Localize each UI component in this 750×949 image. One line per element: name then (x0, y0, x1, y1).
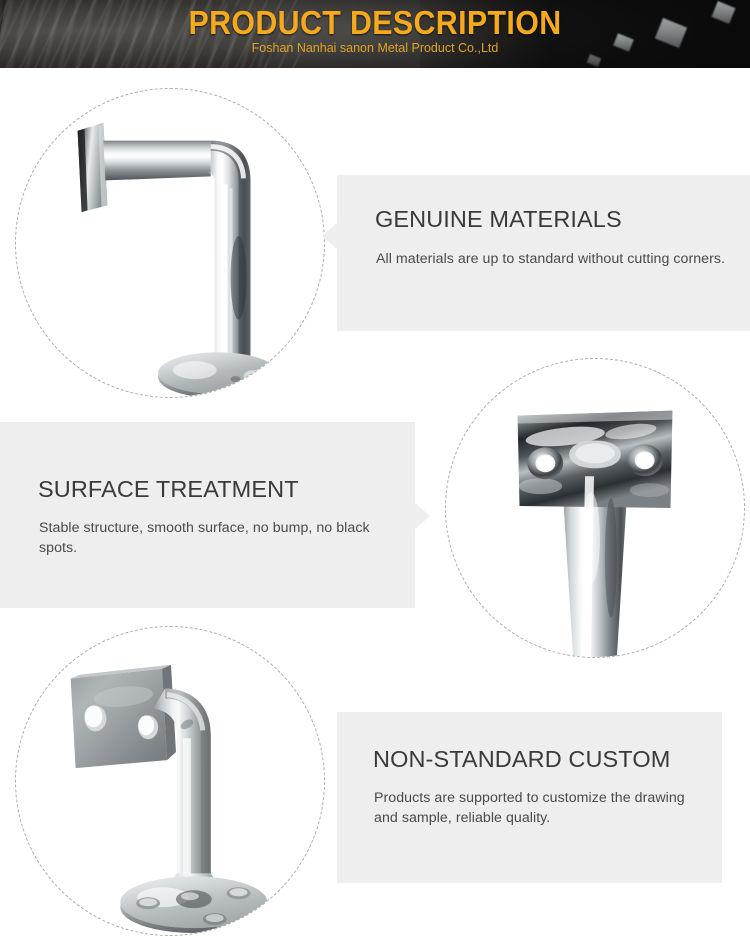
feature-body: All materials are up to standard without… (376, 250, 726, 270)
feature-heading: SURFACE TREATMENT (38, 475, 299, 503)
feature-body: Stable structure, smooth surface, no bum… (39, 519, 394, 558)
feature-heading: GENUINE MATERIALS (375, 205, 622, 233)
feature-panel-non-standard-custom: NON-STANDARD CUSTOM Products are support… (337, 712, 722, 883)
feature-panel-genuine-materials: GENUINE MATERIALS All materials are up t… (337, 175, 750, 331)
panel-notch-right-icon (415, 503, 430, 529)
product-photo-mounting-plate-closeup (445, 358, 745, 658)
feature-panel-surface-treatment: SURFACE TREATMENT Stable structure, smoo… (0, 422, 415, 608)
feature-heading: NON-STANDARD CUSTOM (373, 745, 670, 773)
page-title: PRODUCT DESCRIPTION (30, 5, 720, 41)
product-photo-chrome-bracket (15, 88, 325, 398)
brushed-bracket-illustration (16, 627, 324, 935)
chrome-bracket-illustration (16, 89, 324, 397)
company-name: Foshan Nanhai sanon Metal Product Co.,Lt… (0, 41, 750, 56)
feature-body: Products are supported to customize the … (374, 789, 704, 828)
panel-notch-left-icon (322, 223, 337, 249)
mounting-plate-illustration (446, 359, 744, 657)
product-photo-brushed-bracket (15, 626, 325, 936)
product-description-page: PRODUCT DESCRIPTION Foshan Nanhai sanon … (0, 0, 750, 949)
header-banner: PRODUCT DESCRIPTION Foshan Nanhai sanon … (0, 0, 750, 68)
